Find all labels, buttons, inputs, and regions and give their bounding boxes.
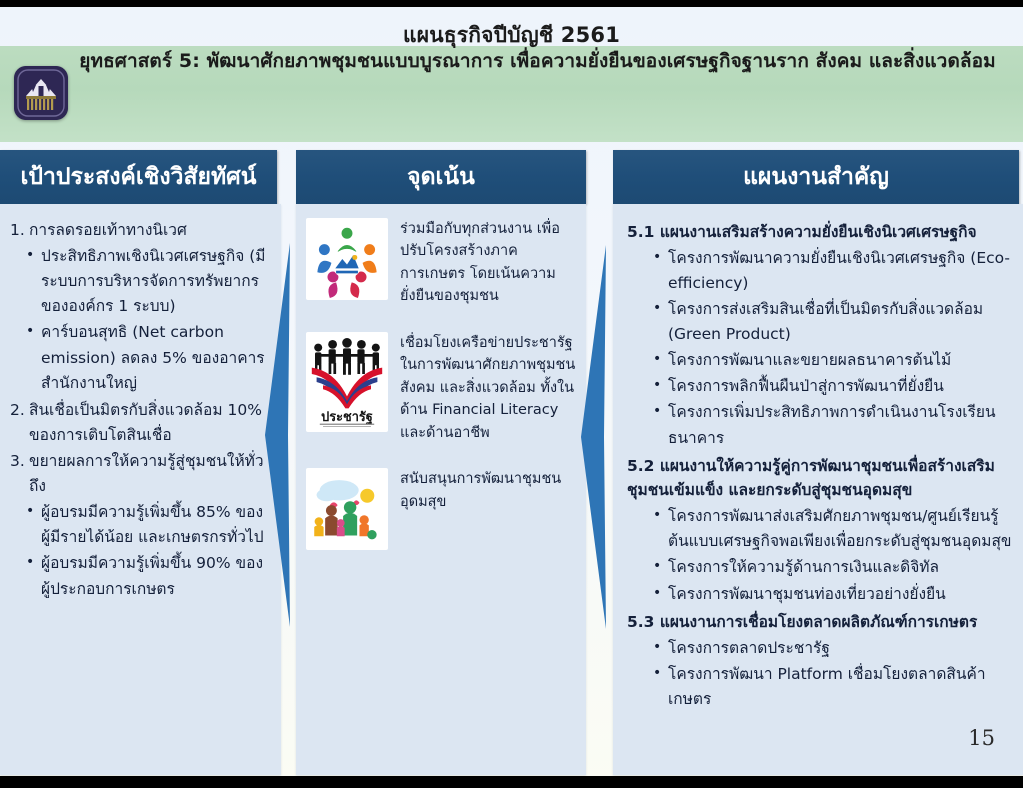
bullet-icon: •	[653, 400, 668, 450]
chevron-left-divider-icon-2	[578, 237, 608, 641]
column-focus-heading: จุดเน้น	[296, 150, 586, 204]
item-text: สินเชื่อเป็นมิตรกับสิ่งแวดล้อม 10% ของกา…	[29, 398, 269, 448]
list-item: • โครงการพลิกฟื้นผืนป่าสู่การพัฒนาที่ยั่…	[653, 374, 1013, 399]
bullet-icon: •	[653, 504, 668, 554]
page-title: แผนธุรกิจปีบัญชี 2561	[403, 23, 620, 48]
list-item: • ผู้อบรมมีความรู้เพิ่มขึ้น 90% ของผู้ปร…	[26, 551, 269, 601]
list-item: • ประสิทธิภาพเชิงนิเวศเศรษฐกิจ (มีระบบกา…	[26, 244, 269, 319]
header-text-block: แผนธุรกิจปีบัญชี 2561 ยุทธศาสตร์ 5: พัฒน…	[0, 0, 1023, 96]
plan-group-list-51: • โครงการพัฒนาความยั่งยืนเชิงนิเวศเศรษฐก…	[627, 246, 1013, 451]
item-text: เชื่อมโยงเครือข่ายประชารัฐในการพัฒนาศักย…	[400, 332, 578, 444]
list-item: • โครงการพัฒนาส่งเสริมศักยภาพชุมชน/ศูนย์…	[653, 504, 1013, 554]
plan-group-title: 5.3 แผนงานการเชื่อมโยงตลาดผลิตภัณฑ์การเก…	[627, 610, 1013, 635]
item-text: ผู้อบรมมีความรู้เพิ่มขึ้น 90% ของผู้ประก…	[41, 551, 269, 601]
column-vision-heading: เป้าประสงค์เชิงวิสัยทัศน์	[0, 150, 277, 204]
bottom-letterbox-bar	[0, 776, 1023, 788]
pracharat-network-logo-icon: ประชารัฐ	[306, 332, 388, 432]
item-text: โครงการพัฒนาความยั่งยืนเชิงนิเวศเศรษฐกิจ…	[668, 246, 1013, 296]
bullet-icon: •	[653, 374, 668, 399]
vision-sub-list-1: • ประสิทธิภาพเชิงนิเวศเศรษฐกิจ (มีระบบกา…	[10, 244, 269, 396]
column-plans-heading: แผนงานสำคัญ	[613, 150, 1019, 204]
item-number: 1.	[10, 218, 29, 243]
bullet-icon: •	[26, 320, 41, 395]
list-item: 2. สินเชื่อเป็นมิตรกับสิ่งแวดล้อม 10% ขอ…	[10, 398, 269, 448]
list-item: สนับสนุนการพัฒนาชุมชนอุดมสุข	[306, 468, 578, 550]
list-item: • โครงการส่งเสริมสินเชื่อที่เป็นมิตรกับส…	[653, 297, 1013, 347]
list-item: • โครงการพัฒนา Platform เชื่อมโยงตลาดสิน…	[653, 662, 1013, 712]
item-text: โครงการพัฒนา Platform เชื่อมโยงตลาดสินค้…	[668, 662, 1013, 712]
bullet-icon: •	[653, 246, 668, 296]
page-number: 15	[968, 726, 995, 750]
list-item: • ผู้อบรมมีความรู้เพิ่มขึ้น 85% ของผู้มี…	[26, 500, 269, 550]
column-focus: จุดเน้น	[296, 150, 586, 775]
column-vision-goals: เป้าประสงค์เชิงวิสัยทัศน์ 1. การลดรอยเท้…	[0, 150, 281, 775]
bullet-icon: •	[26, 500, 41, 550]
list-item: • โครงการให้ความรู้ด้านการเงินและดิจิทัล	[653, 555, 1013, 580]
item-text: โครงการส่งเสริมสินเชื่อที่เป็นมิตรกับสิ่…	[668, 297, 1013, 347]
column-focus-body: ร่วมมือกับทุกส่วนงาน เพื่อปรับโครงสร้างภ…	[296, 204, 586, 775]
bullet-icon: •	[653, 297, 668, 347]
item-text: โครงการพัฒนาชุมชนท่องเที่ยวอย่างยั่งยืน	[668, 582, 1013, 607]
item-text: โครงการพัฒนาและขยายผลธนาคารต้นไม้	[668, 348, 1013, 373]
plan-group-list-53: • โครงการตลาดประชารัฐ • โครงการพัฒนา Pla…	[627, 636, 1013, 712]
list-item: • โครงการพัฒนาชุมชนท่องเที่ยวอย่างยั่งยื…	[653, 582, 1013, 607]
list-item: • โครงการตลาดประชารัฐ	[653, 636, 1013, 661]
item-text: ประสิทธิภาพเชิงนิเวศเศรษฐกิจ (มีระบบการบ…	[41, 244, 269, 319]
item-text: ร่วมมือกับทุกส่วนงาน เพื่อปรับโครงสร้างภ…	[400, 218, 578, 308]
column-key-plans: แผนงานสำคัญ 5.1 แผนงานเสริมสร้างความยั่ง…	[613, 150, 1023, 775]
column-vision-body: 1. การลดรอยเท้าทางนิเวศ • ประสิทธิภาพเชิ…	[0, 204, 281, 775]
top-letterbox-bar	[0, 0, 1023, 7]
column-plans-body: 5.1 แผนงานเสริมสร้างความยั่งยืนเชิงนิเวศ…	[613, 204, 1023, 775]
happy-family-community-icon	[306, 468, 388, 550]
item-text: โครงการเพิ่มประสิทธิภาพการดำเนินงานโรงเร…	[668, 400, 1013, 450]
chevron-left-divider-icon	[262, 235, 292, 639]
baac-bank-logo-icon	[14, 66, 68, 120]
bullet-icon: •	[653, 662, 668, 712]
list-item: • คาร์บอนสุทธิ (Net carbon emission) ลดล…	[26, 320, 269, 395]
item-text: ผู้อบรมมีความรู้เพิ่มขึ้น 85% ของผู้มีรา…	[41, 500, 269, 550]
list-item: • โครงการเพิ่มประสิทธิภาพการดำเนินงานโรง…	[653, 400, 1013, 450]
item-text: การลดรอยเท้าทางนิเวศ	[29, 218, 269, 243]
list-item: • โครงการพัฒนาและขยายผลธนาคารต้นไม้	[653, 348, 1013, 373]
item-text: โครงการพัฒนาส่งเสริมศักยภาพชุมชน/ศูนย์เร…	[668, 504, 1013, 554]
plan-group-title: 5.2 แผนงานให้ความรู้คู่การพัฒนาชุมชนเพื่…	[627, 454, 1013, 504]
bullet-icon: •	[653, 555, 668, 580]
list-item: ร่วมมือกับทุกส่วนงาน เพื่อปรับโครงสร้างภ…	[306, 218, 578, 308]
bullet-icon: •	[26, 551, 41, 601]
list-item: ประชารัฐ เชื่อมโยงเครือข่ายประชารัฐในการ…	[306, 332, 578, 444]
plan-group-list-52: • โครงการพัฒนาส่งเสริมศักยภาพชุมชน/ศูนย์…	[627, 504, 1013, 606]
bullet-icon: •	[653, 348, 668, 373]
list-item: 1. การลดรอยเท้าทางนิเวศ	[10, 218, 269, 243]
item-number: 2.	[10, 398, 29, 448]
plan-group-title: 5.1 แผนงานเสริมสร้างความยั่งยืนเชิงนิเวศ…	[627, 220, 1013, 245]
item-number: 3.	[10, 449, 29, 499]
list-item: 3. ขยายผลการให้ความรู้สู่ชุมชนให้ทั่วถึง	[10, 449, 269, 499]
bullet-icon: •	[653, 582, 668, 607]
item-text: ขยายผลการให้ความรู้สู่ชุมชนให้ทั่วถึง	[29, 449, 269, 499]
item-text: สนับสนุนการพัฒนาชุมชนอุดมสุข	[400, 468, 578, 513]
item-text: โครงการพลิกฟื้นผืนป่าสู่การพัฒนาที่ยั่งย…	[668, 374, 1013, 399]
item-text: โครงการให้ความรู้ด้านการเงินและดิจิทัล	[668, 555, 1013, 580]
agriculture-cooperation-circle-icon	[306, 218, 388, 300]
bullet-icon: •	[653, 636, 668, 661]
vision-sub-list-3: • ผู้อบรมมีความรู้เพิ่มขึ้น 85% ของผู้มี…	[10, 500, 269, 601]
list-item: • โครงการพัฒนาความยั่งยืนเชิงนิเวศเศรษฐก…	[653, 246, 1013, 296]
vision-goal-list: 1. การลดรอยเท้าทางนิเวศ • ประสิทธิภาพเชิ…	[10, 218, 269, 602]
item-text: คาร์บอนสุทธิ (Net carbon emission) ลดลง …	[41, 320, 269, 395]
bullet-icon: •	[26, 244, 41, 319]
page-subtitle: ยุทธศาสตร์ 5: พัฒนาศักยภาพชุมชนแบบบูรณาก…	[27, 50, 996, 74]
slide-canvas: แผนธุรกิจปีบัญชี 2561 ยุทธศาสตร์ 5: พัฒน…	[0, 0, 1023, 788]
item-text: โครงการตลาดประชารัฐ	[668, 636, 1013, 661]
